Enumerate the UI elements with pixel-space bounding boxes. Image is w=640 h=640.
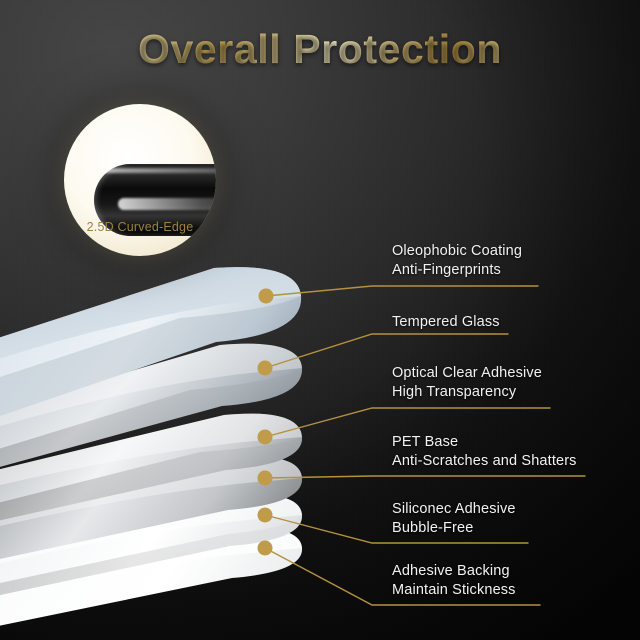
label-silicone: Siliconec Adhesive Bubble-Free [392,500,516,538]
leader-dot-silicone [258,508,273,523]
label-oleophobic-line1: Oleophobic Coating [392,243,522,259]
label-tempered: Tempered Glass [392,313,500,332]
label-pet-line1: PET Base [392,434,458,450]
label-oca-line1: Optical Clear Adhesive [392,365,542,381]
label-silicone-line1: Siliconec Adhesive [392,501,516,517]
label-pet: PET Base Anti-Scratches and Shatters [392,433,577,471]
leader-dot-oleophobic [259,289,274,304]
leader-line-oleophobic [266,286,538,296]
curved-edge-inset: 2.5D Curved-Edge [64,104,216,256]
label-oca-line2: High Transparency [392,383,542,402]
label-tempered-line1: Tempered Glass [392,314,500,330]
leader-dot-pet [258,471,273,486]
label-oleophobic-line2: Anti-Fingerprints [392,261,522,280]
curved-edge-caption: 2.5D Curved-Edge [64,220,216,234]
label-backing: Adhesive Backing Maintain Stickness [392,562,516,600]
exploded-layer-stack [0,0,640,640]
label-oleophobic: Oleophobic Coating Anti-Fingerprints [392,242,522,280]
leader-dot-backing [258,541,273,556]
label-silicone-line2: Bubble-Free [392,519,516,538]
label-backing-line1: Adhesive Backing [392,563,510,579]
label-oca: Optical Clear Adhesive High Transparency [392,364,542,402]
label-pet-line2: Anti-Scratches and Shatters [392,452,577,471]
leader-dot-tempered [258,361,273,376]
label-backing-line2: Maintain Stickness [392,581,516,600]
leader-line-tempered [265,334,508,368]
product-infographic: Overall Protection [0,0,640,640]
leader-line-pet [265,476,585,478]
leader-dot-oca [258,430,273,445]
